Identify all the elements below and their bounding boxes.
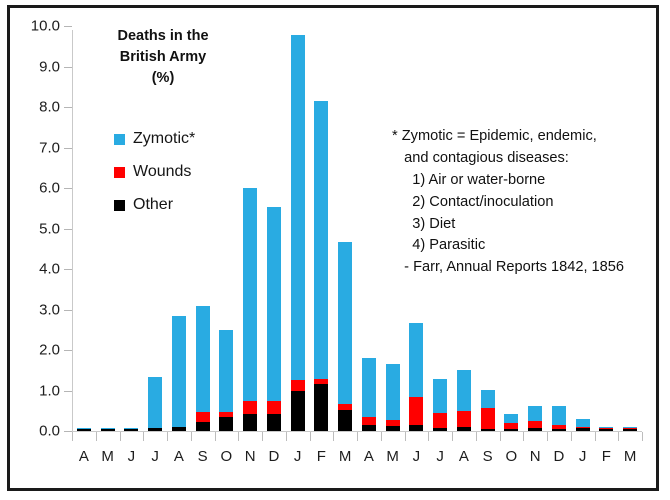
x-axis-tick bbox=[428, 432, 452, 443]
x-axis-tick-label: A bbox=[167, 448, 191, 472]
bar-segment-other bbox=[243, 414, 257, 431]
stacked-bar[interactable] bbox=[386, 364, 400, 431]
stacked-bar[interactable] bbox=[77, 428, 91, 431]
x-axis-tick bbox=[452, 432, 476, 443]
bar-segment-wounds bbox=[481, 408, 495, 428]
bar-group[interactable] bbox=[167, 26, 191, 431]
bar-group[interactable] bbox=[595, 26, 619, 431]
x-axis-tick-label: M bbox=[618, 448, 642, 472]
x-axis-tick-mark bbox=[215, 432, 216, 441]
y-axis-tick-label: 8.0 bbox=[39, 99, 60, 116]
x-axis-tick-mark bbox=[120, 432, 121, 441]
x-axis-tick-label: S bbox=[191, 448, 215, 472]
bar-segment-other bbox=[291, 391, 305, 432]
bar-segment-other bbox=[148, 428, 162, 431]
bar-segment-other bbox=[219, 417, 233, 431]
bar-segment-other bbox=[77, 429, 91, 431]
x-axis-tick bbox=[618, 432, 642, 443]
x-axis-tick-mark bbox=[72, 432, 73, 441]
x-axis-tick-mark bbox=[500, 432, 501, 441]
bar-segment-wounds bbox=[433, 413, 447, 428]
x-axis-tick-label: M bbox=[333, 448, 357, 472]
bar-segment-wounds bbox=[291, 380, 305, 390]
bar-segment-wounds bbox=[267, 401, 281, 414]
bar-segment-other bbox=[552, 429, 566, 431]
x-axis-tick-label: F bbox=[310, 448, 334, 472]
bar-segment-zymotic bbox=[291, 35, 305, 380]
bar-group[interactable] bbox=[143, 26, 167, 431]
x-axis-tick bbox=[595, 432, 619, 443]
stacked-bar[interactable] bbox=[291, 35, 305, 431]
x-axis-tick-mark bbox=[310, 432, 311, 441]
x-axis-tick bbox=[500, 432, 524, 443]
bar-segment-zymotic bbox=[409, 323, 423, 397]
x-axis-tick-label: D bbox=[547, 448, 571, 472]
y-axis-tick-mark bbox=[64, 229, 72, 230]
bar-segment-other bbox=[528, 428, 542, 431]
x-axis-labels: AMJJASONDJFMAMJJASONDJFM bbox=[72, 448, 642, 472]
bar-group[interactable] bbox=[500, 26, 524, 431]
stacked-bar[interactable] bbox=[552, 406, 566, 431]
x-axis-tick-label: O bbox=[215, 448, 239, 472]
y-axis-tick-label: 1.0 bbox=[39, 382, 60, 399]
y-axis-tick-mark bbox=[64, 67, 72, 68]
bar-group[interactable] bbox=[547, 26, 571, 431]
stacked-bar[interactable] bbox=[481, 390, 495, 431]
bar-segment-wounds bbox=[196, 412, 210, 422]
x-axis-tick-mark bbox=[286, 432, 287, 441]
y-axis-tick-mark bbox=[64, 391, 72, 392]
x-axis-tick-mark bbox=[476, 432, 477, 441]
bar-segment-other bbox=[433, 428, 447, 431]
x-axis-tick bbox=[286, 432, 310, 443]
bar-segment-zymotic bbox=[552, 406, 566, 425]
x-axis-tick-label: A bbox=[452, 448, 476, 472]
bar-segment-zymotic bbox=[386, 364, 400, 421]
y-axis-tick-mark bbox=[64, 148, 72, 149]
x-axis-tick-label: O bbox=[500, 448, 524, 472]
bar-group[interactable] bbox=[262, 26, 286, 431]
x-axis-tick-mark bbox=[191, 432, 192, 441]
y-axis-tick-label: 10.0 bbox=[31, 18, 60, 35]
stacked-bar[interactable] bbox=[599, 427, 613, 431]
bar-segment-zymotic bbox=[481, 390, 495, 409]
bar-segment-zymotic bbox=[314, 101, 328, 378]
bar-group[interactable] bbox=[238, 26, 262, 431]
stacked-bar[interactable] bbox=[576, 419, 590, 431]
stacked-bar[interactable] bbox=[623, 427, 637, 431]
x-axis-tick bbox=[262, 432, 286, 443]
x-axis-tick-mark bbox=[618, 432, 619, 441]
x-axis-tick bbox=[310, 432, 334, 443]
bar-segment-zymotic bbox=[362, 358, 376, 417]
x-axis-tick-mark bbox=[262, 432, 263, 441]
bar-group[interactable] bbox=[476, 26, 500, 431]
stacked-bar[interactable] bbox=[314, 101, 328, 431]
bar-segment-wounds bbox=[409, 397, 423, 425]
y-axis-tick-mark bbox=[64, 188, 72, 189]
bar-segment-wounds bbox=[457, 411, 471, 427]
x-axis-tick-label: A bbox=[72, 448, 96, 472]
x-axis-tick bbox=[333, 432, 357, 443]
x-axis-tick-mark bbox=[428, 432, 429, 441]
stacked-bar[interactable] bbox=[172, 316, 186, 431]
bar-segment-zymotic bbox=[148, 377, 162, 428]
y-axis-tick-mark bbox=[64, 107, 72, 108]
chart-figure: Deaths in the British Army (%) Zymotic* … bbox=[7, 5, 659, 491]
y-axis-tick-label: 9.0 bbox=[39, 58, 60, 75]
x-axis-tick bbox=[405, 432, 429, 443]
bar-segment-other bbox=[124, 429, 138, 431]
y-axis-tick-label: 6.0 bbox=[39, 180, 60, 197]
x-axis-tick bbox=[238, 432, 262, 443]
stacked-bar[interactable] bbox=[196, 306, 210, 431]
bar-segment-other bbox=[576, 428, 590, 431]
bar-segment-zymotic bbox=[457, 370, 471, 411]
x-axis-tick-label: M bbox=[96, 448, 120, 472]
bar-group[interactable] bbox=[405, 26, 429, 431]
y-axis-tick-label: 5.0 bbox=[39, 220, 60, 237]
bar-segment-other bbox=[267, 414, 281, 431]
x-axis-tick-label: J bbox=[120, 448, 144, 472]
stacked-bar[interactable] bbox=[219, 330, 233, 431]
bar-segment-other bbox=[409, 425, 423, 431]
x-axis-tick-mark bbox=[547, 432, 548, 441]
x-axis-tick bbox=[143, 432, 167, 443]
y-axis-tick-mark bbox=[64, 269, 72, 270]
x-axis-tick bbox=[167, 432, 191, 443]
stacked-bar[interactable] bbox=[457, 370, 471, 431]
x-axis-tick-label: J bbox=[428, 448, 452, 472]
bar-segment-zymotic bbox=[243, 188, 257, 401]
x-axis-tick-label: F bbox=[595, 448, 619, 472]
x-axis-tick-label: J bbox=[405, 448, 429, 472]
x-axis-tick bbox=[476, 432, 500, 443]
bar-segment-zymotic bbox=[433, 379, 447, 413]
x-axis-tick-mark bbox=[642, 432, 643, 441]
bar-segment-zymotic bbox=[338, 242, 352, 405]
bar-segment-other bbox=[481, 429, 495, 431]
bar-segment-other bbox=[623, 429, 637, 431]
x-axis-tick-mark bbox=[381, 432, 382, 441]
bar-group[interactable] bbox=[120, 26, 144, 431]
y-axis-tick-mark bbox=[64, 310, 72, 311]
x-axis-tick-mark bbox=[452, 432, 453, 441]
x-axis-ticks bbox=[72, 432, 642, 443]
x-axis-tick bbox=[120, 432, 144, 443]
bar-segment-other bbox=[196, 422, 210, 431]
stacked-bar[interactable] bbox=[338, 242, 352, 432]
bar-segment-other bbox=[101, 429, 115, 431]
x-axis-tick bbox=[571, 432, 595, 443]
y-axis-tick-label: 4.0 bbox=[39, 261, 60, 278]
x-axis-tick bbox=[215, 432, 239, 443]
bar-segment-zymotic bbox=[267, 207, 281, 401]
stacked-bar[interactable] bbox=[148, 377, 162, 431]
bar-segment-other bbox=[599, 429, 613, 431]
bar-segment-other bbox=[362, 425, 376, 431]
stacked-bar[interactable] bbox=[124, 428, 138, 431]
x-axis-tick-label: D bbox=[262, 448, 286, 472]
bar-segment-zymotic bbox=[576, 419, 590, 427]
bar-segment-other bbox=[172, 427, 186, 431]
y-axis-tick-mark bbox=[64, 431, 72, 432]
x-axis-tick-mark bbox=[167, 432, 168, 441]
bar-segment-wounds bbox=[243, 401, 257, 414]
stacked-bar[interactable] bbox=[101, 428, 115, 431]
stacked-bar[interactable] bbox=[362, 358, 376, 431]
y-axis-tick-label: 0.0 bbox=[39, 423, 60, 440]
bar-segment-zymotic bbox=[196, 306, 210, 412]
bar-group[interactable] bbox=[618, 26, 642, 431]
x-axis-tick bbox=[96, 432, 120, 443]
stacked-bar[interactable] bbox=[504, 414, 518, 431]
bar-group[interactable] bbox=[452, 26, 476, 431]
x-axis-tick-label: N bbox=[238, 448, 262, 472]
bar-group[interactable] bbox=[428, 26, 452, 431]
x-axis-tick-mark bbox=[357, 432, 358, 441]
y-axis-tick-label: 3.0 bbox=[39, 301, 60, 318]
x-axis-tick-mark bbox=[96, 432, 97, 441]
x-axis-tick-label: J bbox=[286, 448, 310, 472]
bar-segment-other bbox=[386, 426, 400, 431]
x-axis-tick-mark bbox=[238, 432, 239, 441]
bar-group[interactable] bbox=[357, 26, 381, 431]
x-axis-tick-mark bbox=[143, 432, 144, 441]
stacked-bar[interactable] bbox=[243, 188, 257, 431]
bar-group[interactable] bbox=[381, 26, 405, 431]
x-axis-tick-mark bbox=[333, 432, 334, 441]
stacked-bar[interactable] bbox=[433, 379, 447, 431]
x-axis-tick-label: S bbox=[476, 448, 500, 472]
y-axis-tick-mark bbox=[64, 26, 72, 27]
bar-series-group bbox=[72, 26, 642, 431]
bar-segment-other bbox=[457, 427, 471, 431]
bar-segment-zymotic bbox=[219, 330, 233, 412]
plot-area: 0.01.02.03.04.05.06.07.08.09.010.0 AMJJA… bbox=[72, 26, 642, 468]
bar-group[interactable] bbox=[72, 26, 96, 431]
bar-segment-other bbox=[314, 384, 328, 431]
x-axis-tick-mark bbox=[595, 432, 596, 441]
x-axis-tick bbox=[357, 432, 381, 443]
stacked-bar[interactable] bbox=[409, 323, 423, 431]
x-axis-tick-mark bbox=[523, 432, 524, 441]
stacked-bar[interactable] bbox=[267, 207, 281, 431]
bar-segment-wounds bbox=[528, 421, 542, 428]
x-axis-tick bbox=[547, 432, 571, 443]
bar-group[interactable] bbox=[571, 26, 595, 431]
x-axis-tick-label: J bbox=[571, 448, 595, 472]
x-axis-tick bbox=[523, 432, 547, 443]
x-axis-tick bbox=[191, 432, 215, 443]
bar-segment-zymotic bbox=[172, 316, 186, 427]
bar-group[interactable] bbox=[333, 26, 357, 431]
bar-group[interactable] bbox=[286, 26, 310, 431]
x-axis-tick-mark bbox=[571, 432, 572, 441]
x-axis-tick-label: N bbox=[523, 448, 547, 472]
x-axis-tick-label: J bbox=[143, 448, 167, 472]
bar-group[interactable] bbox=[523, 26, 547, 431]
bar-segment-other bbox=[504, 429, 518, 431]
stacked-bar[interactable] bbox=[528, 406, 542, 431]
x-axis-tick-label: A bbox=[357, 448, 381, 472]
y-axis-tick-label: 7.0 bbox=[39, 139, 60, 156]
x-axis-tick-label: M bbox=[381, 448, 405, 472]
bar-group[interactable] bbox=[96, 26, 120, 431]
y-axis-tick-mark bbox=[64, 350, 72, 351]
bar-segment-wounds bbox=[362, 417, 376, 425]
x-axis-tick-mark bbox=[405, 432, 406, 441]
bar-segment-other bbox=[338, 410, 352, 431]
y-axis-tick-label: 2.0 bbox=[39, 342, 60, 359]
bar-segment-zymotic bbox=[504, 414, 518, 422]
bar-group[interactable] bbox=[215, 26, 239, 431]
bar-segment-zymotic bbox=[528, 406, 542, 421]
x-axis-tick bbox=[72, 432, 96, 443]
x-axis-tick bbox=[381, 432, 405, 443]
bar-group[interactable] bbox=[191, 26, 215, 431]
bar-group[interactable] bbox=[310, 26, 334, 431]
